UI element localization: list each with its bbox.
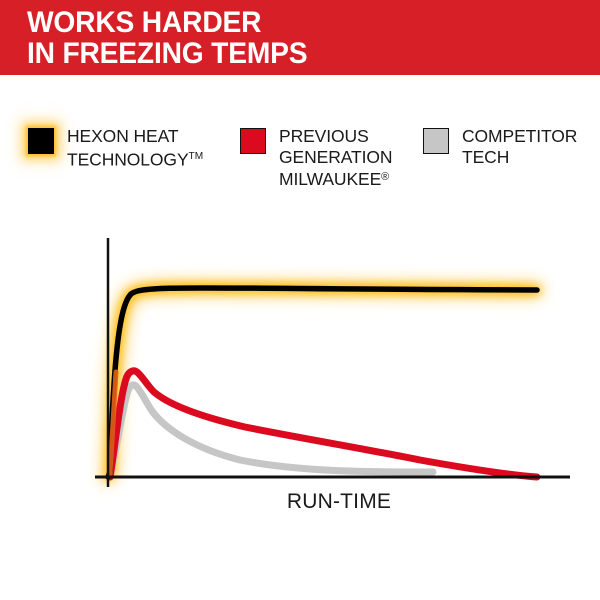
legend-label-text: PREVIOUS GENERATION MILWAUKEE (279, 126, 392, 189)
x-axis-title: RUN-TIME (108, 490, 570, 514)
series-line-previous-generation (110, 371, 537, 477)
legend-item-hexon-heat-technology: HEXON HEAT TECHNOLOGYTM (28, 126, 213, 169)
legend-label-text: HEXON HEAT TECHNOLOGY (67, 126, 189, 169)
page-title: WORKS HARDER IN FREEZING TEMPS (27, 7, 307, 69)
hexon-curve-glow (108, 288, 537, 477)
line-chart-svg (0, 222, 600, 502)
legend-label: PREVIOUS GENERATION MILWAUKEE® (279, 126, 392, 189)
legend-swatch-red-icon (240, 128, 266, 154)
chart-legend: HEXON HEAT TECHNOLOGYTM PREVIOUS GENERAT… (28, 126, 588, 206)
legend-label: COMPETITOR TECH (462, 126, 577, 167)
legend-item-competitor-tech: COMPETITOR TECH (423, 126, 600, 167)
header-banner: WORKS HARDER IN FREEZING TEMPS (0, 0, 600, 75)
legend-swatch-gray-icon (423, 128, 449, 154)
legend-label: HEXON HEAT TECHNOLOGYTM (67, 126, 203, 169)
registered-symbol: ® (381, 171, 389, 183)
series-line-hexon-heat-technology (108, 288, 537, 477)
chart-plot-area (0, 222, 600, 502)
legend-label-text: COMPETITOR TECH (462, 126, 577, 167)
trademark-symbol: TM (189, 151, 204, 162)
legend-item-previous-generation-milwaukee: PREVIOUS GENERATION MILWAUKEE® (240, 126, 425, 189)
legend-swatch-black-glow-icon (28, 128, 54, 154)
